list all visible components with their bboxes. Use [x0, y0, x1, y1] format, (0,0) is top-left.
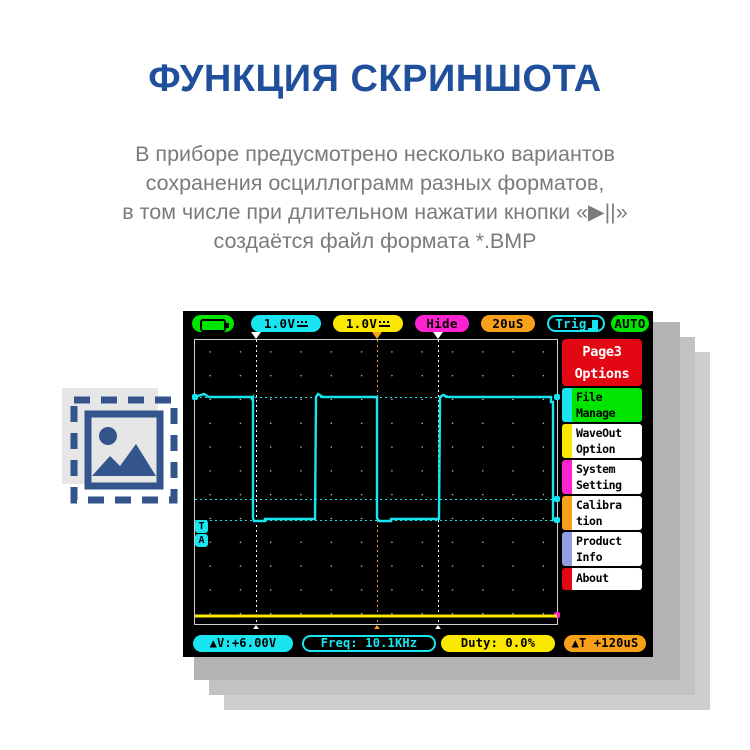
waveform-trace [195, 340, 557, 624]
waveform-plot-area[interactable]: T A B [194, 339, 558, 625]
menu-item-1[interactable]: WaveOut Option [562, 424, 642, 458]
menu-item-color-tab [562, 460, 572, 494]
ch2-volts-label: 1.0V [346, 316, 377, 331]
cursor-handle-top[interactable] [433, 332, 443, 339]
menu-header-page3-options: Page3 Options [562, 339, 642, 386]
battery-icon [200, 319, 226, 332]
menu-item-2[interactable]: System Setting [562, 460, 642, 494]
menu-item-color-tab [562, 532, 572, 566]
cursor-handle-top[interactable] [372, 332, 382, 339]
rising-edge-icon [588, 320, 597, 330]
menu-item-label: Product Info [572, 532, 642, 566]
cursor-handle-top[interactable] [251, 332, 261, 339]
menu-item-0[interactable]: File Manage [562, 388, 642, 422]
trigger-button[interactable]: Trig [547, 315, 605, 332]
delta-voltage-readout[interactable]: ▲V:+6.00V [193, 635, 293, 652]
marker-trigger-level[interactable]: T [195, 520, 208, 533]
delta-time-readout[interactable]: ▲T +120uS [564, 635, 646, 652]
menu-item-5[interactable]: About [562, 568, 642, 590]
options-menu: Page3 Options File ManageWaveOut OptionS… [562, 339, 642, 590]
menu-item-label: About [572, 568, 642, 590]
menu-item-color-tab [562, 496, 572, 530]
dc-coupling-icon [297, 320, 308, 329]
scope-bottom-measurement-bar: ▲V:+6.00V Freq: 10.1KHz Duty: 0.0% ▲T +1… [183, 629, 653, 657]
page-title: ФУНКЦИЯ СКРИНШОТА [0, 58, 750, 101]
page-subtitle: В приборе предусмотрено несколько вариан… [40, 140, 710, 256]
timebase-button[interactable]: 20uS [481, 315, 535, 332]
frequency-readout[interactable]: Freq: 10.1KHz [302, 635, 436, 652]
menu-item-color-tab [562, 424, 572, 458]
channel-1-volts-button[interactable]: 1.0V [251, 315, 321, 332]
menu-item-color-tab [562, 388, 572, 422]
trigger-mode-button[interactable]: AUTO [611, 315, 649, 332]
menu-item-label: Calibra tion [572, 496, 642, 530]
menu-item-label: File Manage [572, 388, 642, 422]
picture-placeholder-icon [58, 386, 182, 510]
trigger-label: Trig [555, 316, 586, 331]
marker-channel-a[interactable]: A [195, 534, 208, 547]
menu-item-4[interactable]: Product Info [562, 532, 642, 566]
ch1-volts-label: 1.0V [264, 316, 295, 331]
duty-cycle-readout[interactable]: Duty: 0.0% [441, 635, 555, 652]
menu-item-list: File ManageWaveOut OptionSystem SettingC… [562, 388, 642, 590]
battery-indicator [192, 315, 234, 332]
oscilloscope-screenshot: 1.0V 1.0V Hide 20uS Trig AUTO [183, 311, 653, 657]
hide-button[interactable]: Hide [415, 315, 469, 332]
dc-coupling-icon [379, 320, 390, 329]
menu-item-label: System Setting [572, 460, 642, 494]
channel-2-volts-button[interactable]: 1.0V [333, 315, 403, 332]
menu-item-color-tab [562, 568, 572, 590]
menu-item-3[interactable]: Calibra tion [562, 496, 642, 530]
menu-item-label: WaveOut Option [572, 424, 642, 458]
